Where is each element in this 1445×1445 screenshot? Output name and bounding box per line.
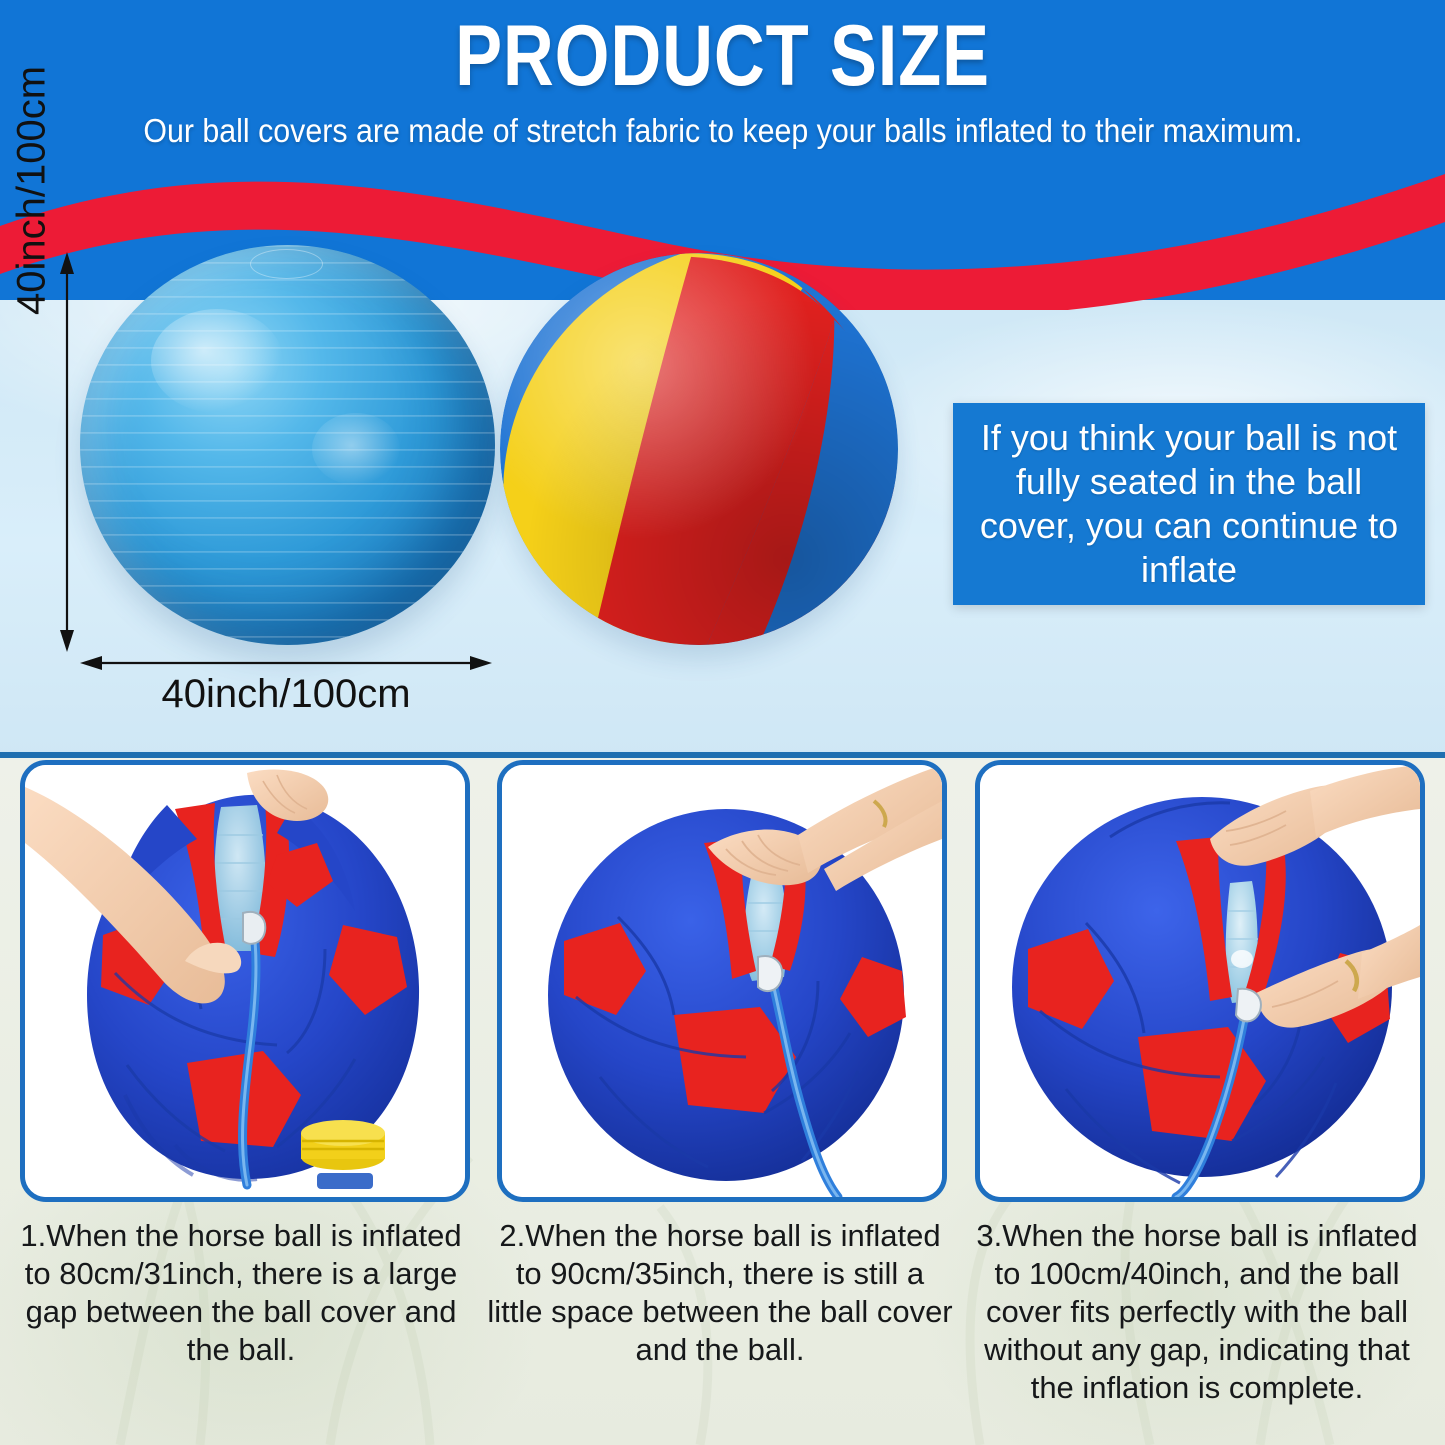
ball-top-cap xyxy=(250,249,323,279)
section-divider-line xyxy=(0,752,1445,758)
step-3-caption: 3.When the horse ball is inflated to 100… xyxy=(962,1217,1432,1407)
width-dimension-arrow xyxy=(80,652,492,674)
inflation-tip-text: If you think your ball is not fully seat… xyxy=(953,412,1425,596)
step-1-photo xyxy=(20,760,470,1202)
ball-highlight-secondary xyxy=(312,413,399,485)
ball-ribbing xyxy=(80,245,495,645)
inflation-tip-callout: If you think your ball is not fully seat… xyxy=(953,403,1425,605)
exercise-ball xyxy=(80,245,495,645)
step-1-caption: 1.When the horse ball is inflated to 80c… xyxy=(6,1217,476,1369)
ball-highlight-primary xyxy=(151,309,284,413)
page-title: PRODUCT SIZE xyxy=(130,8,1315,104)
beach-ball xyxy=(500,253,898,645)
step-3-photo xyxy=(975,760,1425,1202)
step-2-photo xyxy=(497,760,947,1202)
width-dimension-label: 40inch/100cm xyxy=(80,672,492,717)
header-subtitle: Our ball covers are made of stretch fabr… xyxy=(111,110,1335,151)
step-2-caption: 2.When the horse ball is inflated to 90c… xyxy=(485,1217,955,1369)
steps-panels xyxy=(0,757,1445,1207)
beach-ball-shading xyxy=(500,253,898,645)
height-dimension-label: 40inch/100cm xyxy=(10,41,55,341)
product-size-infographic: PRODUCT SIZE Our ball covers are made of… xyxy=(0,0,1445,1445)
steps-section: 1.When the horse ball is inflated to 80c… xyxy=(0,757,1445,1445)
height-dimension-arrow xyxy=(56,252,78,652)
